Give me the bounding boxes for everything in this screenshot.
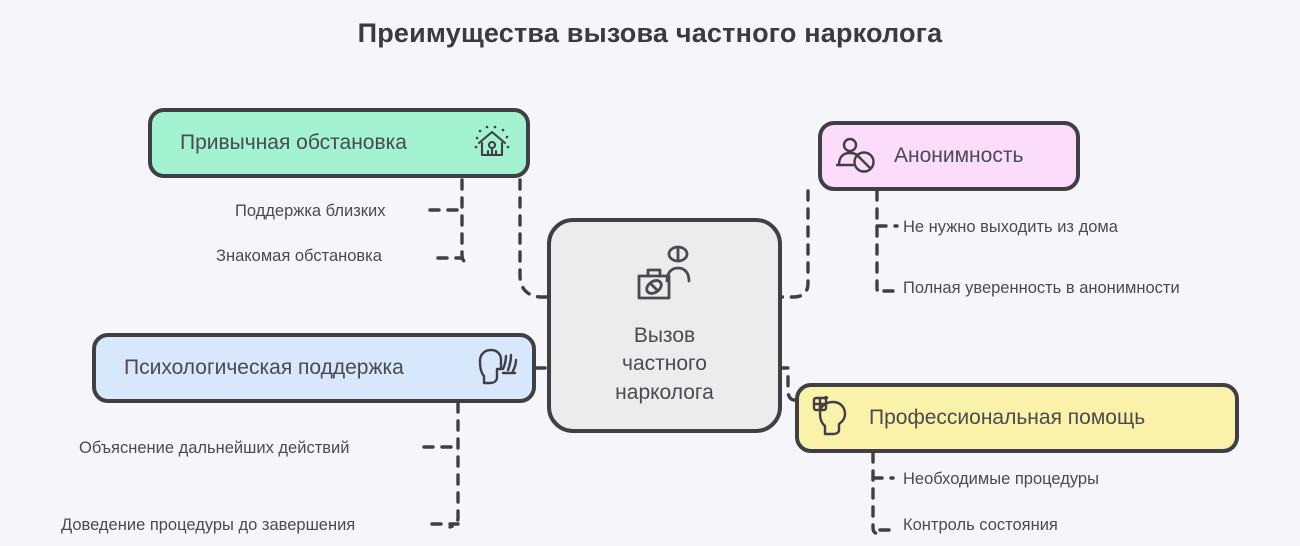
branch-node-psychological[interactable]: Психологическая поддержка (92, 333, 536, 403)
leaf-professional-0: Необходимые процедуры (903, 470, 1099, 489)
branch-label-professional: Профессиональная помощь (869, 406, 1145, 430)
leaf-psychological-0: Объяснение дальнейших действий (79, 439, 349, 458)
connector-anonymity-to-center (782, 191, 808, 297)
leaf-anonymity-1: Полная уверенность в анонимности (903, 279, 1180, 298)
branch-label-habitual: Привычная обстановка (180, 131, 407, 155)
branch-node-professional[interactable]: Профессиональная помощь (795, 383, 1239, 453)
branch-node-habitual[interactable]: Привычная обстановка (148, 108, 530, 178)
connector-psychological-leaves (450, 403, 458, 527)
branch-label-anonymity: Анонимность (894, 144, 1023, 168)
leaf-habitual-1: Знакомая обстановка (216, 247, 382, 266)
house-icon (472, 123, 512, 163)
center-label-line-1: Вызов (615, 322, 714, 350)
center-node-label: Вызов частного нарколога (615, 322, 714, 407)
center-label-line-3: нарколога (615, 379, 714, 407)
leaf-habitual-0: Поддержка близких (235, 202, 385, 221)
connector-professional-to-center (782, 368, 795, 400)
center-node[interactable]: Вызов частного нарколога (547, 218, 782, 433)
page-title: Преимущества вызова частного нарколога (0, 18, 1300, 49)
leaf-psychological-1: Доведение процедуры до завершения (61, 516, 355, 535)
head-hand-support-icon (474, 347, 518, 389)
mindmap-canvas: Преимущества вызова частного нарколога П… (0, 0, 1300, 546)
center-label-line-2: частного (615, 350, 714, 378)
connector-anonymity-leaves (877, 191, 884, 294)
head-medical-cross-icon (811, 396, 857, 440)
connector-professional-leaves (873, 453, 880, 534)
connector-habitual-leaves (462, 180, 470, 263)
person-prohibited-icon (834, 134, 880, 178)
leaf-anonymity-0: Не нужно выходить из дома (903, 218, 1118, 237)
leaf-professional-1: Контроль состояния (903, 516, 1058, 535)
doctor-medical-bag-icon (629, 244, 701, 306)
branch-node-anonymity[interactable]: Анонимность (818, 121, 1080, 191)
branch-label-psychological: Психологическая поддержка (124, 356, 404, 380)
